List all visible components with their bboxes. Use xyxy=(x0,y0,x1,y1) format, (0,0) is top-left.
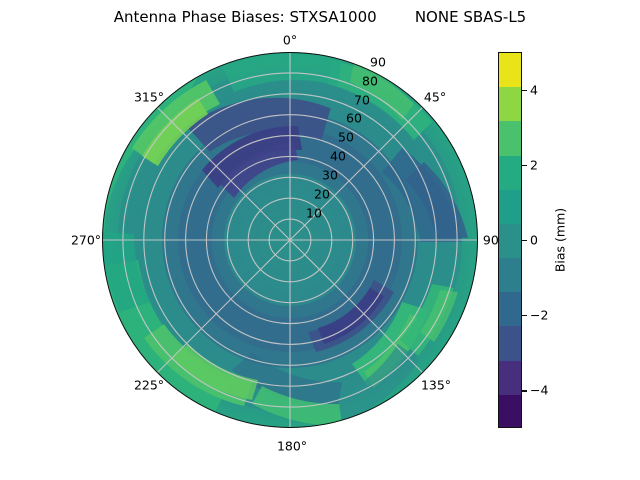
angular-tick-270: 270° xyxy=(71,233,101,248)
colorbar-tick xyxy=(522,240,527,241)
angular-tick-135: 135° xyxy=(421,378,451,393)
radial-tick-50: 50 xyxy=(338,130,354,145)
polar-grid xyxy=(102,52,478,428)
polar-plot[interactable] xyxy=(102,52,478,428)
colorbar-band xyxy=(499,326,521,360)
colorbar-band xyxy=(499,395,521,428)
radial-tick-20: 20 xyxy=(314,187,330,202)
colorbar-band xyxy=(499,87,521,121)
colorbar-band xyxy=(499,121,521,155)
colorbar-tick-label: 2 xyxy=(530,157,538,172)
colorbar-tick-label: −2 xyxy=(530,308,548,323)
angular-tick-315: 315° xyxy=(134,90,164,105)
colorbar-band xyxy=(499,361,521,395)
colorbar-band xyxy=(499,190,521,224)
radial-tick-10: 10 xyxy=(306,206,322,221)
colorbar-band xyxy=(499,258,521,292)
colorbar-tick xyxy=(522,90,527,91)
angular-tick-180: 180° xyxy=(277,439,307,454)
colorbar-band xyxy=(499,156,521,190)
colorbar-band xyxy=(499,292,521,326)
angular-tick-45: 45° xyxy=(424,90,446,105)
colorbar-label: Bias (mm) xyxy=(553,208,568,272)
chart-title: Antenna Phase Biases: STXSA1000 NONE SBA… xyxy=(0,8,640,26)
colorbar-band xyxy=(499,53,521,87)
colorbar-tick xyxy=(522,315,527,316)
colorbar-tick-label: −4 xyxy=(530,383,548,398)
colorbar-tick-label: 4 xyxy=(530,82,538,97)
figure-canvas: Antenna Phase Biases: STXSA1000 NONE SBA… xyxy=(0,0,640,480)
colorbar-gradient xyxy=(498,52,522,428)
colorbar-tick-label: 0 xyxy=(530,233,538,248)
colorbar[interactable]: 420−2−4 xyxy=(498,52,522,428)
colorbar-band xyxy=(499,224,521,258)
radial-tick-30: 30 xyxy=(322,168,338,183)
radial-tick-80: 80 xyxy=(362,74,378,89)
radial-tick-70: 70 xyxy=(354,93,370,108)
radial-tick-90: 90 xyxy=(370,55,386,70)
angular-tick-0: 0° xyxy=(283,33,297,48)
colorbar-tick xyxy=(522,165,527,166)
radial-tick-60: 60 xyxy=(346,111,362,126)
contour-svg xyxy=(102,52,478,428)
polar-contour-region xyxy=(102,52,478,428)
radial-tick-40: 40 xyxy=(330,149,346,164)
angular-tick-225: 225° xyxy=(134,378,164,393)
colorbar-tick xyxy=(522,390,527,391)
